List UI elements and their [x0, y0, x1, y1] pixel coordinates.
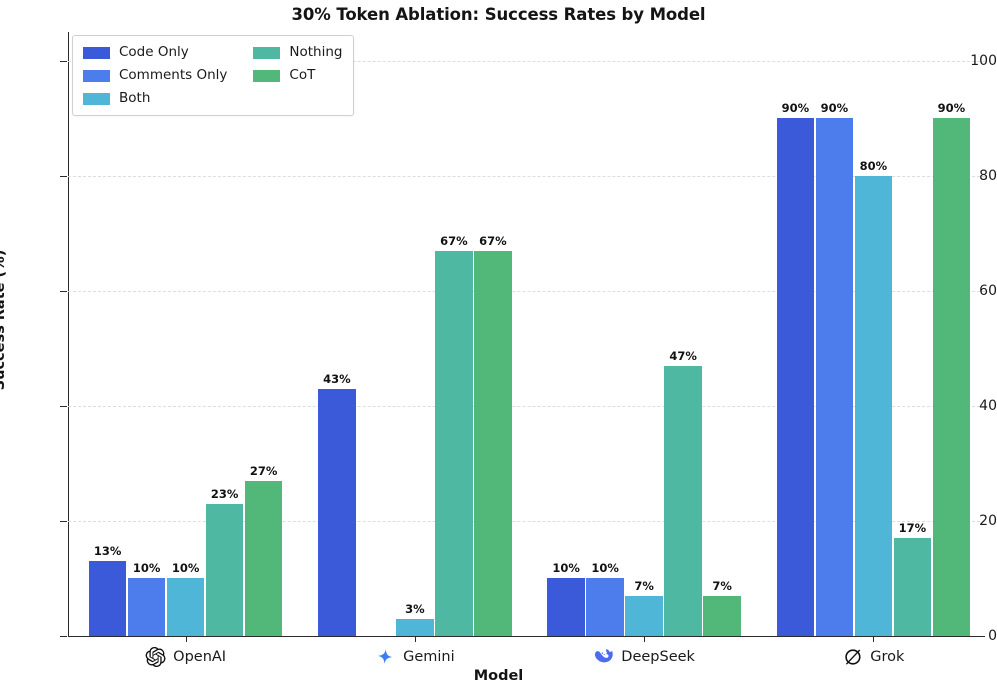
bar-both-grok[interactable]	[855, 176, 893, 636]
bar-cot-gemini[interactable]	[474, 251, 512, 636]
bar-cot-grok[interactable]	[933, 118, 971, 636]
y-tick-label: 100	[945, 53, 997, 69]
bar-cot-openai[interactable]	[245, 481, 283, 636]
y-tick-mark	[60, 61, 67, 62]
plot-area: 13%10%10%23%27%43%3%67%67%10%10%7%47%7%9…	[68, 32, 985, 636]
grok-slash-icon	[842, 647, 863, 668]
y-tick-label: 20	[945, 513, 997, 529]
x-axis-spine	[68, 636, 985, 637]
bar-value-label: 90%	[821, 101, 849, 115]
bar-value-label: 43%	[323, 372, 351, 386]
bar-both-deepseek[interactable]	[625, 596, 663, 636]
bar-nothing-openai[interactable]	[206, 504, 244, 636]
legend-label: CoT	[289, 69, 315, 83]
x-tick-label: Grok	[870, 649, 904, 665]
x-tick-label: Gemini	[403, 649, 455, 665]
y-tick-mark	[60, 521, 67, 522]
bar-cot-deepseek[interactable]	[703, 596, 741, 636]
bar-value-label: 13%	[94, 544, 122, 558]
bar-value-label: 90%	[938, 101, 966, 115]
legend-item-nothing[interactable]: Nothing	[253, 43, 342, 62]
chart-title: 30% Token Ablation: Success Rates by Mod…	[0, 5, 997, 24]
bar-value-label: 90%	[782, 101, 810, 115]
legend-item-cot[interactable]: CoT	[253, 66, 342, 85]
y-tick-mark	[60, 176, 67, 177]
bar-value-label: 10%	[591, 561, 619, 575]
bar-value-label: 47%	[669, 349, 697, 363]
y-tick-label: 60	[945, 283, 997, 299]
bar-both-gemini[interactable]	[396, 619, 434, 636]
bar-code-only-grok[interactable]	[777, 118, 815, 636]
bar-comments-only-grok[interactable]	[816, 118, 854, 636]
legend-item-both[interactable]: Both	[83, 89, 227, 108]
bar-code-only-gemini[interactable]	[318, 389, 356, 636]
bar-nothing-gemini[interactable]	[435, 251, 473, 636]
legend-item-comments-only[interactable]: Comments Only	[83, 66, 227, 85]
x-axis-label: Model	[0, 668, 997, 684]
bar-value-label: 67%	[440, 234, 468, 248]
deepseek-whale-icon	[593, 647, 614, 668]
bar-code-only-deepseek[interactable]	[547, 578, 585, 636]
legend-label: Code Only	[119, 46, 189, 60]
openai-logo-icon	[145, 647, 166, 668]
legend-swatch	[83, 47, 110, 59]
y-tick-label: 40	[945, 398, 997, 414]
bar-value-label: 67%	[479, 234, 507, 248]
x-tick-label: DeepSeek	[621, 649, 695, 665]
y-tick-mark	[60, 291, 67, 292]
bar-value-label: 10%	[172, 561, 200, 575]
y-tick-label: 80	[945, 168, 997, 184]
legend-label: Comments Only	[119, 69, 227, 83]
legend-item-code-only[interactable]: Code Only	[83, 43, 227, 62]
bar-value-label: 7%	[712, 579, 732, 593]
bar-value-label: 10%	[133, 561, 161, 575]
y-tick-mark	[60, 406, 67, 407]
y-tick-label: 0	[945, 628, 997, 644]
bar-nothing-deepseek[interactable]	[664, 366, 702, 636]
legend-swatch	[253, 70, 280, 82]
chart-figure: 30% Token Ablation: Success Rates by Mod…	[0, 0, 997, 694]
bar-value-label: 3%	[405, 602, 425, 616]
bar-comments-only-deepseek[interactable]	[586, 578, 624, 636]
gemini-sparkle-icon	[375, 647, 396, 668]
x-tick-label: OpenAI	[173, 649, 226, 665]
bar-value-label: 7%	[634, 579, 654, 593]
y-tick-mark	[60, 636, 67, 637]
legend-column-right: NothingCoT	[253, 43, 342, 108]
bar-value-label: 27%	[250, 464, 278, 478]
legend-swatch	[83, 70, 110, 82]
bar-value-label: 80%	[860, 159, 888, 173]
bar-comments-only-openai[interactable]	[128, 578, 166, 636]
bar-value-label: 10%	[552, 561, 580, 575]
bar-both-openai[interactable]	[167, 578, 205, 636]
legend-label: Both	[119, 92, 150, 106]
legend-swatch	[253, 47, 280, 59]
bar-code-only-openai[interactable]	[89, 561, 127, 636]
legend-column-left: Code OnlyComments OnlyBoth	[83, 43, 227, 108]
bar-value-label: 23%	[211, 487, 239, 501]
bar-nothing-grok[interactable]	[894, 538, 932, 636]
legend-swatch	[83, 93, 110, 105]
bar-value-label: 17%	[899, 521, 927, 535]
chart-legend: Code OnlyComments OnlyBoth NothingCoT	[72, 35, 354, 116]
legend-label: Nothing	[289, 46, 342, 60]
y-axis-label: Success Rate (%)	[0, 10, 8, 630]
